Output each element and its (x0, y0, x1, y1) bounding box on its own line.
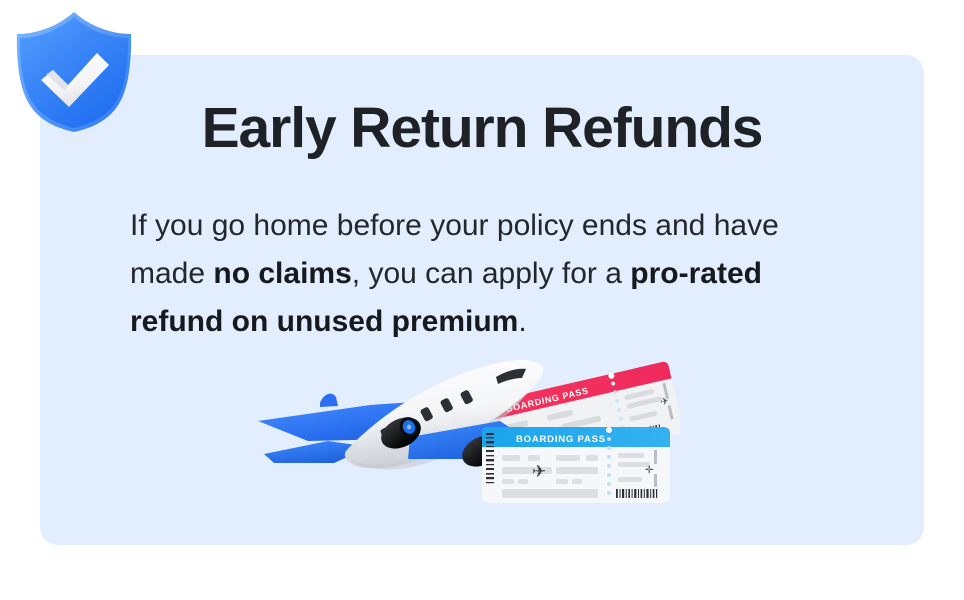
body-period: . (518, 305, 526, 338)
blue-boarding-pass: BOARDING PASS (482, 427, 670, 503)
shield-check-icon (8, 8, 140, 134)
body-bold-no-claims: no claims (213, 257, 351, 290)
page-title: Early Return Refunds (40, 100, 924, 157)
slide-canvas: Early Return Refunds If you go home befo… (0, 0, 964, 600)
airplane-and-boarding-passes-illustration: BOARDING PASS (250, 355, 680, 510)
blue-ticket-label: BOARDING PASS (516, 434, 606, 445)
body-paragraph: If you go home before your policy ends a… (130, 202, 830, 346)
body-line2-end: , you can apply for a (352, 257, 622, 290)
blue-ticket-plane-glyph: ✈ (532, 462, 546, 481)
blue-ticket-stub-glyph: ✛ (645, 465, 653, 476)
body-line1: If you go home before your policy ends a… (130, 209, 705, 242)
